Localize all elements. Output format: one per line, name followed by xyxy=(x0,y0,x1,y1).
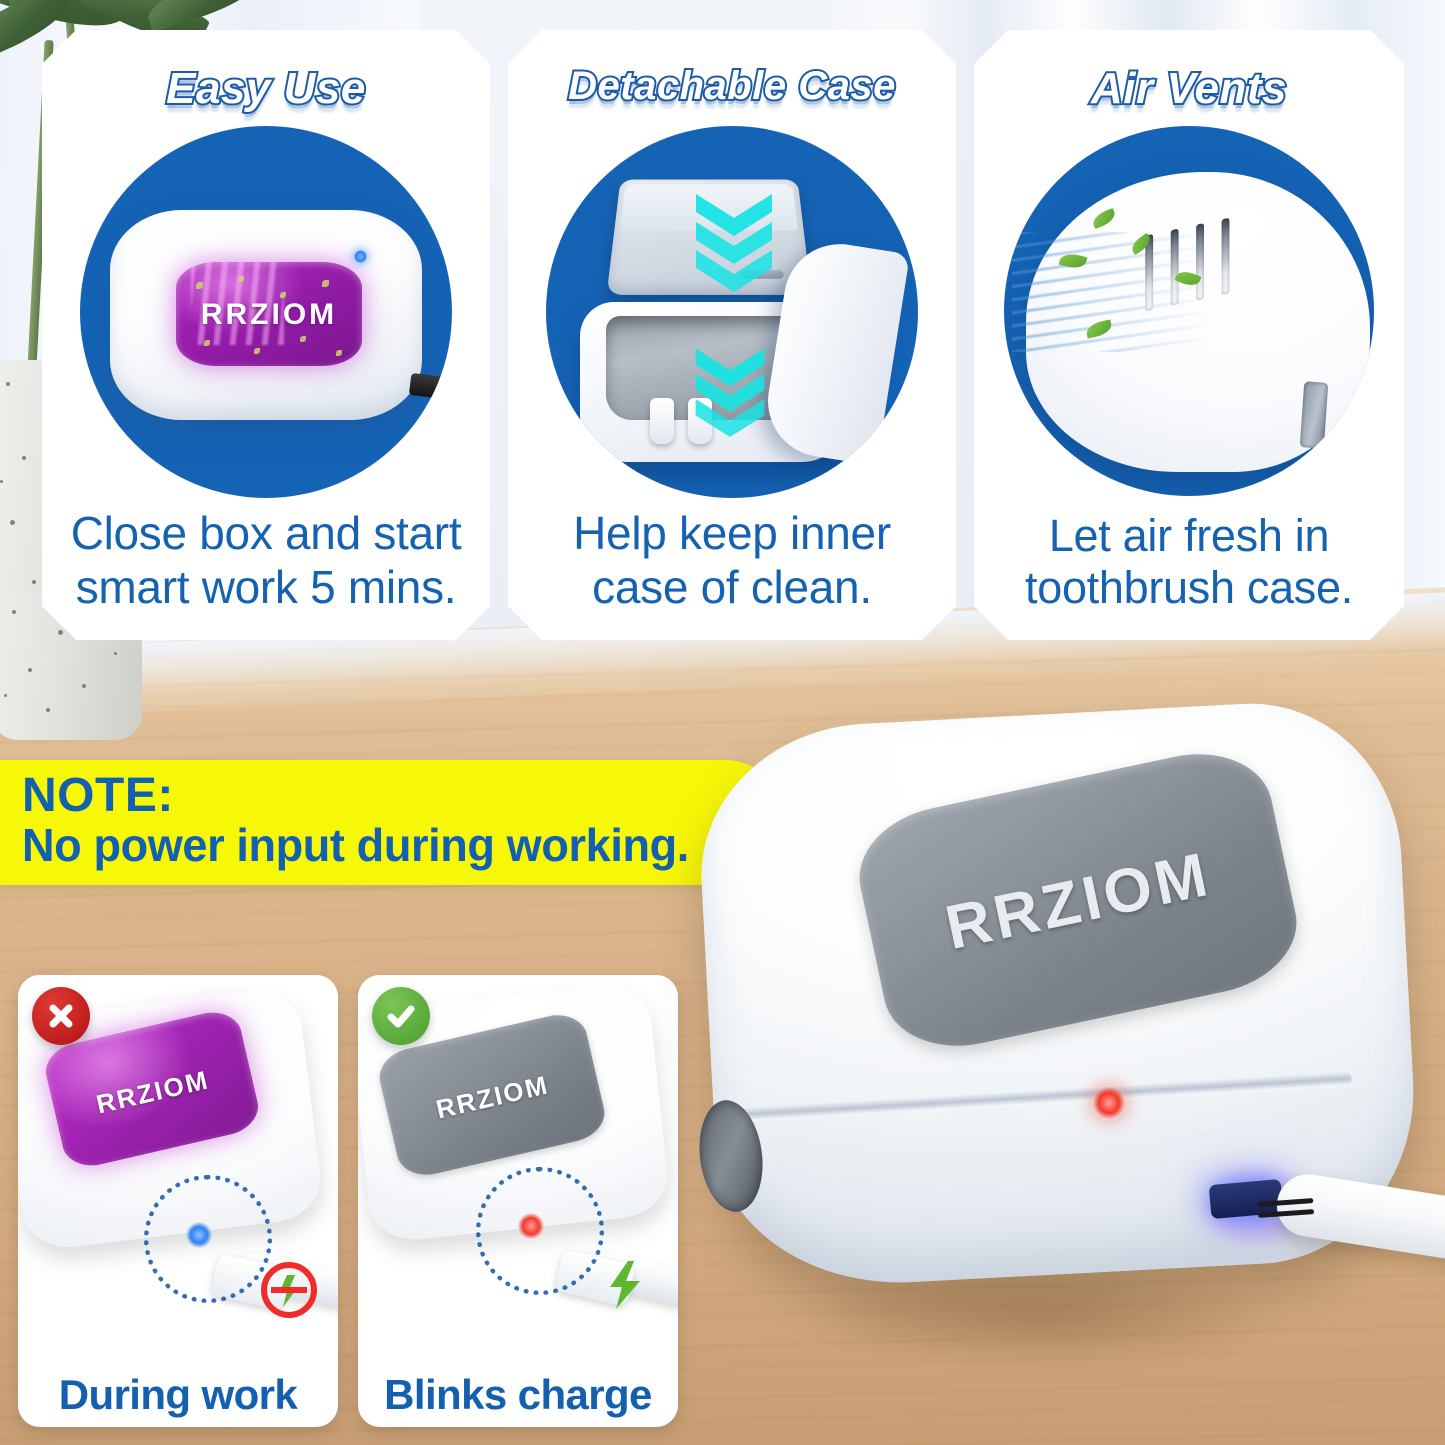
red-led-indicator xyxy=(518,1213,544,1239)
note-body: No power input during working. xyxy=(22,818,689,872)
check-badge xyxy=(372,987,430,1045)
brush-holder-prong-left xyxy=(650,398,674,444)
detachable-case-illustration xyxy=(546,126,918,498)
panel-title-air-vents: Air Vents xyxy=(974,64,1404,114)
hero-logo: RRZIOM xyxy=(866,823,1292,980)
feature-panel-easy-use: Easy Use RRZIOM Clos xyxy=(42,30,490,640)
panel-caption-air-vents: Let air fresh in toothbrush case. xyxy=(994,510,1384,614)
panel-caption-easy-use: Close box and start smart work 5 mins. xyxy=(62,507,470,614)
compare-label-during-work: During work xyxy=(18,1371,338,1419)
device-logo: RRZIOM xyxy=(386,1059,600,1137)
feature-panels: Easy Use RRZIOM Clos xyxy=(0,0,1445,672)
note-banner: NOTE: No power input during working. xyxy=(0,760,787,885)
during-work-illustration: RRZIOM xyxy=(18,975,338,1347)
panel-title-easy-use: Easy Use xyxy=(42,64,490,114)
panel-caption-detachable-case: Help keep inner case of clean. xyxy=(528,507,936,614)
leaf-icon-1 xyxy=(1090,208,1117,229)
blue-led-indicator xyxy=(186,1222,212,1248)
vent-slots xyxy=(1145,211,1262,316)
uv-window: RRZIOM xyxy=(176,262,362,366)
air-vents-illustration xyxy=(1004,126,1374,496)
note-title: NOTE: xyxy=(22,768,174,823)
compare-card-blinks-charge: RRZIOM Blinks charge xyxy=(358,975,678,1427)
blue-led-indicator xyxy=(354,250,367,263)
hero-product: RRZIOM xyxy=(690,700,1445,1445)
cross-badge xyxy=(32,987,90,1045)
panel-title-detachable-case: Detachable Case xyxy=(508,64,956,109)
cord-stub xyxy=(409,373,452,401)
product-infographic: Easy Use RRZIOM Clos xyxy=(0,0,1445,1445)
blinks-charge-illustration: RRZIOM xyxy=(358,975,678,1347)
compare-label-blinks-charge: Blinks charge xyxy=(358,1371,678,1419)
device-logo: RRZIOM xyxy=(52,1054,254,1129)
uv-window-logo: RRZIOM xyxy=(176,298,362,332)
easy-use-illustration: RRZIOM xyxy=(80,126,452,498)
hero-red-led xyxy=(1092,1086,1126,1120)
hero-connector-pins xyxy=(1257,1196,1315,1228)
device-body-vents xyxy=(1026,172,1370,472)
feature-panel-detachable-case: Detachable Case xyxy=(508,30,956,640)
compare-card-during-work: RRZIOM During work xyxy=(18,975,338,1427)
feature-panel-air-vents: Air Vents Let air fresh in toothbrush ca… xyxy=(974,30,1404,640)
closed-device: RRZIOM xyxy=(110,210,422,420)
lightning-bolt-icon xyxy=(602,1259,648,1316)
side-port xyxy=(1300,381,1329,449)
no-charging-icon xyxy=(256,1257,322,1328)
